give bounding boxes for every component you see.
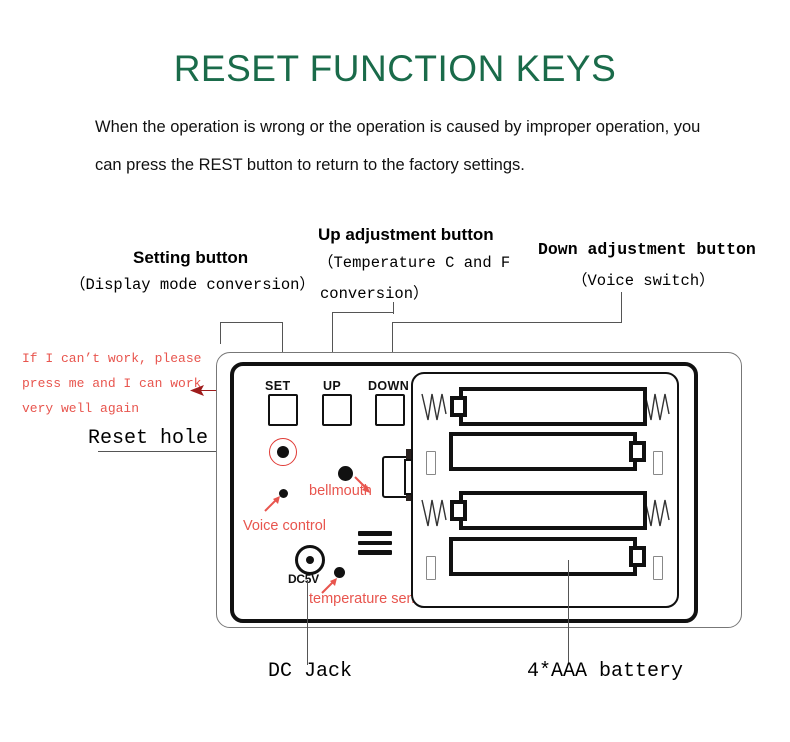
callout-up-sub-line2: conversion） xyxy=(320,281,429,303)
battery-cell xyxy=(459,491,647,530)
battery-terminal xyxy=(629,441,646,462)
label-bellmouth: bellmouth xyxy=(309,483,372,499)
leader-setting-horizontal xyxy=(221,322,283,323)
battery-notch xyxy=(653,556,663,580)
dc5v-label: DC5V xyxy=(288,572,319,586)
battery-terminal xyxy=(629,546,646,567)
button-label-set: SET xyxy=(265,379,291,393)
leader-battery xyxy=(568,560,569,665)
leader-up-elbow xyxy=(393,302,394,314)
callout-setting-sub: （Display mode conversion） xyxy=(70,272,315,294)
label-voice-control: Voice control xyxy=(243,518,326,534)
battery-cell xyxy=(449,432,637,471)
battery-cell xyxy=(449,537,637,576)
leader-down-horizontal xyxy=(392,322,622,323)
button-label-up: UP xyxy=(323,379,341,393)
intro-paragraph: When the operation is wrong or the opera… xyxy=(95,108,720,184)
reset-hole[interactable] xyxy=(269,438,297,466)
bellmouth-port xyxy=(338,466,353,481)
set-button[interactable] xyxy=(268,394,298,426)
battery-compartment xyxy=(411,372,679,608)
battery-terminal xyxy=(450,396,467,417)
callout-down-title: Down adjustment button xyxy=(538,240,756,259)
callout-down-sub: （Voice switch） xyxy=(572,268,715,290)
battery-terminal xyxy=(450,500,467,521)
label-reset-hole: Reset hole xyxy=(88,427,208,450)
dc5v-jack[interactable] xyxy=(295,545,325,575)
label-dc-jack: DC Jack xyxy=(268,660,352,683)
callout-up-sub-line1: （Temperature C and F xyxy=(318,250,510,272)
battery-notch xyxy=(653,451,663,475)
red-note-line2: press me and I can work xyxy=(22,371,201,396)
page-title: RESET FUNCTION KEYS xyxy=(0,48,790,90)
red-note-line3: very well again xyxy=(22,396,201,421)
spring-contact-icon xyxy=(421,392,447,422)
up-button[interactable] xyxy=(322,394,352,426)
callout-setting-title: Setting button xyxy=(133,248,248,268)
battery-notch xyxy=(426,451,436,475)
voice-control-arrow-icon xyxy=(262,495,284,515)
spring-contact-icon xyxy=(644,392,670,422)
speaker-grille-icon xyxy=(358,531,392,555)
callout-up-title: Up adjustment button xyxy=(318,225,494,245)
spring-contact-icon xyxy=(421,498,447,528)
label-battery: 4*AAA battery xyxy=(527,660,683,683)
battery-cell xyxy=(459,387,647,426)
down-button[interactable] xyxy=(375,394,405,426)
red-arrow-head-icon xyxy=(190,383,206,398)
button-label-down: DOWN xyxy=(368,379,409,393)
spring-contact-icon xyxy=(644,498,670,528)
red-note: If I can’t work, please press me and I c… xyxy=(22,346,201,421)
red-note-line1: If I can’t work, please xyxy=(22,346,201,371)
leader-dc-jack xyxy=(307,580,308,665)
leader-setting-elbow xyxy=(220,322,221,344)
battery-notch xyxy=(426,556,436,580)
leader-down-elbow xyxy=(621,292,622,323)
leader-up-horizontal xyxy=(332,312,394,313)
